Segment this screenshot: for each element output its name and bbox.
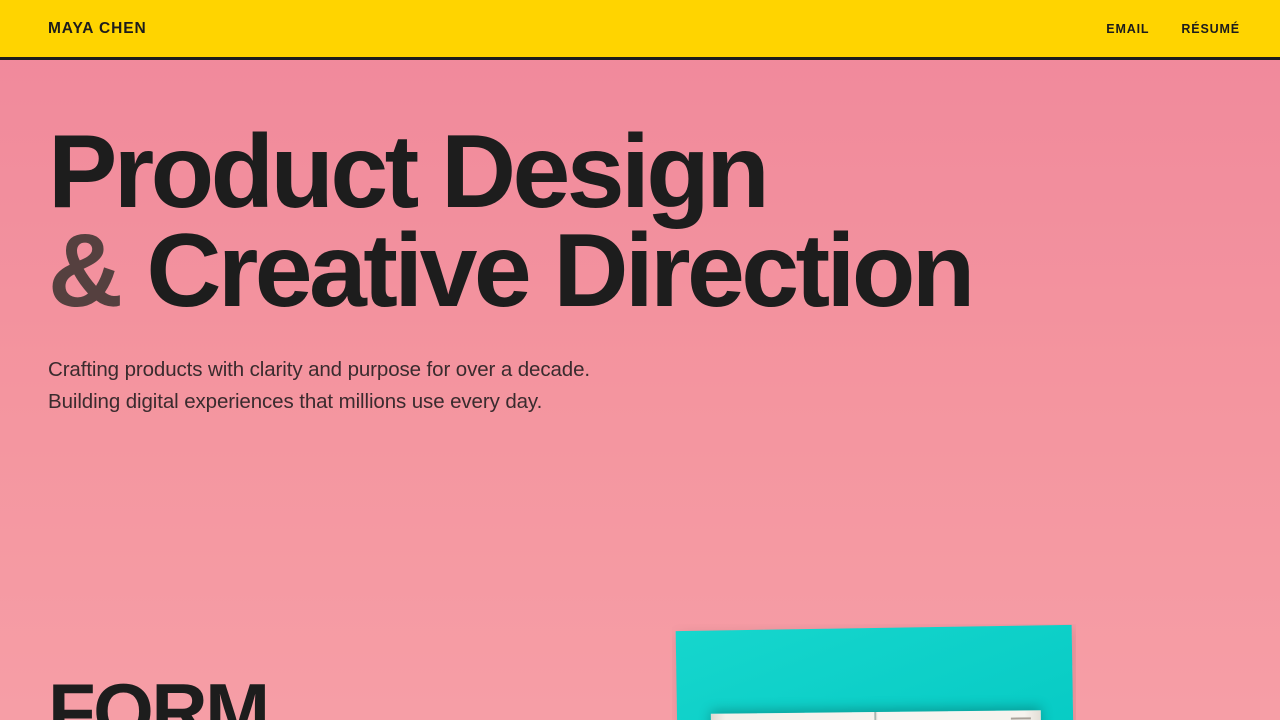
headline-line-2: & Creative Direction [48,222,972,321]
subtitle-line-2: Building digital experiences that millio… [48,386,590,418]
page-title: Product Design & Creative Direction [48,123,972,322]
magazine-left-page: The ZIN [711,712,878,720]
nav-link-resume[interactable]: RÉSUMÉ [1181,22,1240,36]
site-header: MAYA CHEN EMAIL RÉSUMÉ [0,0,1280,60]
ampersand-glyph: & [48,213,121,329]
subtitle-line-1: Crafting products with clarity and purpo… [48,354,590,386]
header-nav: EMAIL RÉSUMÉ [1106,22,1240,36]
nav-link-email[interactable]: EMAIL [1106,22,1149,36]
headline-line-2-rest: Creative Direction [121,213,972,329]
section-heading-form: FORM [48,672,268,720]
hero-section: Product Design & Creative Direction Craf… [0,60,1280,720]
brand-logo[interactable]: MAYA CHEN [48,20,147,38]
headline-line-1: Product Design [48,123,972,222]
teal-backdrop-card [676,625,1076,720]
magazine-figure: The ZIN [672,624,1076,720]
magazine-folio-lines [1011,717,1031,719]
hero-subtitle: Crafting products with clarity and purpo… [48,354,590,418]
magazine-right-page [876,710,1043,720]
